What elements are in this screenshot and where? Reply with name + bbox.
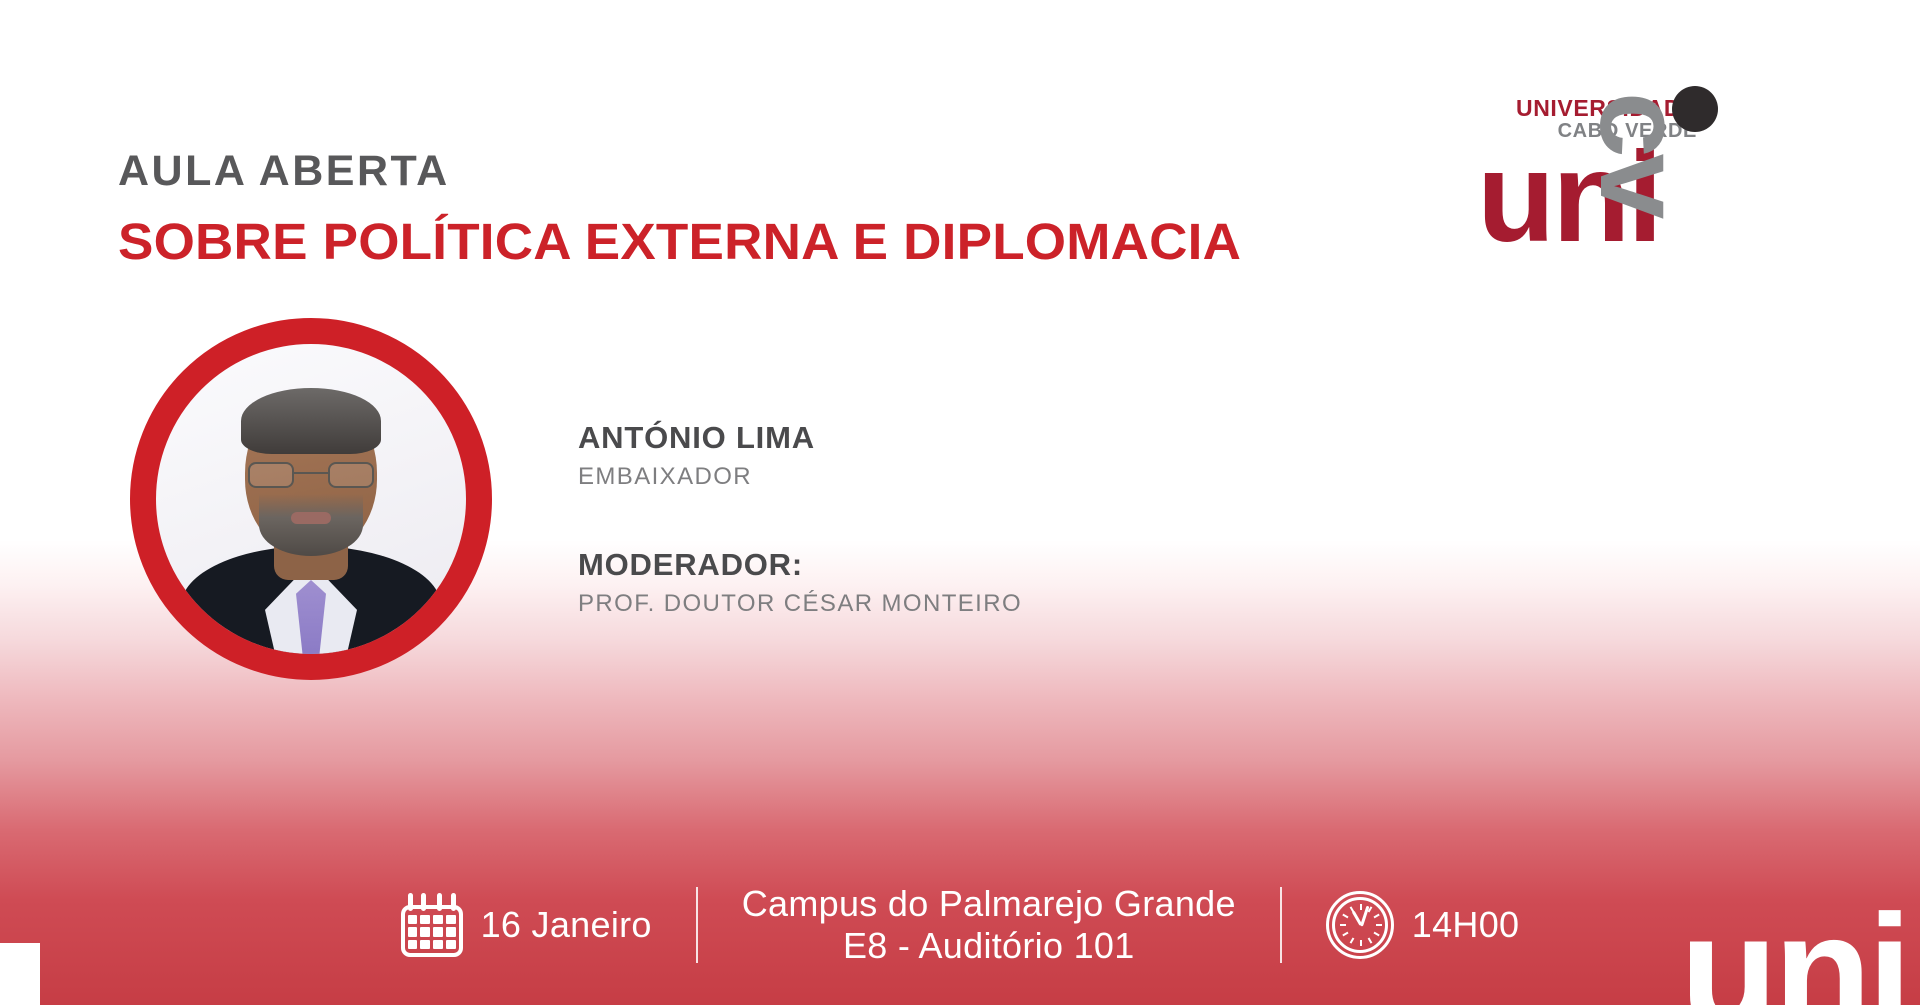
venue-line-1: Campus do Palmarejo Grande	[742, 883, 1236, 925]
speaker-info: ANTÓNIO LIMA EMBAIXADOR MODERADOR: PROF.…	[578, 418, 1022, 622]
poster-kicker: AULA ABERTA	[118, 150, 1198, 193]
moderator-label: MODERADOR:	[578, 545, 1022, 586]
footer-venue-item: Campus do Palmarejo Grande E8 - Auditóri…	[742, 883, 1236, 968]
clock-icon	[1326, 891, 1394, 959]
footer-time-item: 14H00	[1326, 891, 1520, 959]
moderator-name: PROF. DOUTOR CÉSAR MONTEIRO	[578, 586, 1022, 622]
speaker-name: ANTÓNIO LIMA	[578, 418, 1022, 459]
footer-separator-2	[1280, 887, 1282, 963]
moderator-info: MODERADOR: PROF. DOUTOR CÉSAR MONTEIRO	[578, 545, 1022, 622]
avatar	[130, 318, 492, 680]
poster-heading-group: AULA ABERTA SOBRE POLÍTICA EXTERNA E DIP…	[118, 150, 1198, 267]
event-poster: AULA ABERTA SOBRE POLÍTICA EXTERNA E DIP…	[0, 0, 1920, 1005]
event-date: 16 Janeiro	[481, 904, 652, 946]
speaker-role: EMBAIXADOR	[578, 459, 1022, 495]
calendar-icon	[401, 893, 463, 957]
footer-date-item: 16 Janeiro	[401, 893, 652, 957]
event-time: 14H00	[1412, 904, 1520, 946]
event-venue: Campus do Palmarejo Grande E8 - Auditóri…	[742, 883, 1236, 968]
poster-footer: 16 Janeiro Campus do Palmarejo Grande E8…	[0, 845, 1920, 1005]
venue-line-2: E8 - Auditório 101	[742, 925, 1236, 967]
page-title: SOBRE POLÍTICA EXTERNA E DIPLOMACIA	[118, 216, 1241, 267]
footer-corner-notch	[0, 943, 40, 1005]
footer-separator-1	[696, 887, 698, 963]
uni-watermark: uni	[1680, 891, 1908, 1005]
logo-cv-text: cv	[1582, 92, 1700, 215]
avatar-ring	[130, 318, 492, 680]
